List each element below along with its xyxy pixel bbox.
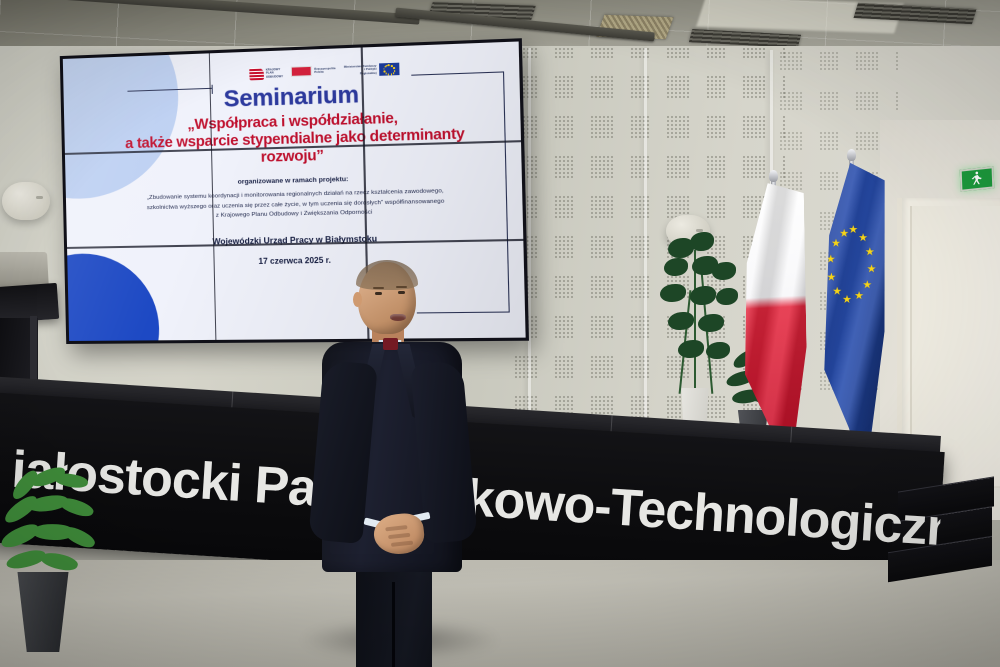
person-eye [398,291,405,294]
kpo-logo: KRAJOWY PLAN ODBUDOWY [249,67,283,80]
wall-panel-seam [528,48,531,448]
ministerstwo-funduszy-logo: Ministerstwo Funduszy i Polityki Regiona… [344,63,399,77]
person-ear [353,292,362,307]
flagpole-finial [769,170,778,182]
flagpole-finial [847,149,856,161]
mf-logo-text: Ministerstwo Funduszy i Polityki Regiona… [344,65,377,76]
wall-panel-seam [644,48,647,453]
rzeczpospolita-polska-logo: Rzeczpospolita Polska [291,65,335,77]
kpo-logo-line3: ODBUDOWY [266,75,283,79]
person-eyebrow [373,287,384,289]
slide-text-block: Seminarium „Współpraca i współdziałanie,… [103,76,491,268]
slide-institution: Wojewódzki Urząd Pracy w Białymstoku [106,231,490,248]
running-man-icon [969,170,985,188]
mf-logo-line3: Regionalnej [344,71,377,75]
photograph-scene: KRAJOWY PLAN ODBUDOWY Rzeczpospolita Pol… [0,0,1000,667]
person-eye [375,292,382,295]
person-hair [356,260,418,290]
eu-flag-mark [379,63,399,76]
kpo-logo-mark [249,68,264,81]
polish-flag-mark [291,66,312,77]
person-mouth [390,314,406,321]
speaker-person [300,262,500,667]
rp-logo-line2: Polska [314,70,335,74]
person-tie-knot [383,338,398,350]
slide-subtitle: „Współpraca i współdziałanie, a także ws… [103,108,488,171]
rp-logo-text: Rzeczpospolita Polska [314,67,335,74]
wall-speaker-left [2,182,50,220]
slide-project-text: „Zbudowanie systemu koordynacji i monito… [105,186,489,224]
person-eyebrow [396,286,407,288]
exit-sign [960,166,995,192]
kpo-logo-text: KRAJOWY PLAN ODBUDOWY [266,68,283,79]
person-leg-seam [392,582,395,667]
